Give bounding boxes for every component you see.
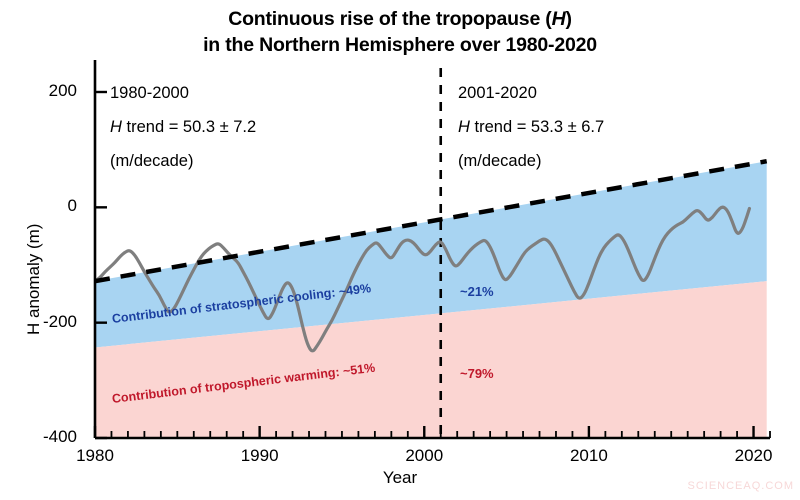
left-trend-value: trend = 50.3 ± 7.2 — [122, 118, 256, 136]
x-tick-label: 1990 — [230, 446, 290, 466]
annotation-left-period-units: (m/decade) — [110, 152, 193, 171]
annotation-right-period-trend: H trend = 53.3 ± 6.7 — [458, 118, 604, 137]
plot-canvas — [0, 0, 800, 500]
y-tick-label: -400 — [0, 427, 77, 447]
x-axis-title: Year — [0, 468, 800, 488]
x-tick-label: 2020 — [724, 446, 784, 466]
y-tick-label: 200 — [0, 81, 77, 101]
tropospheric-warming-percent-right: ~79% — [460, 366, 494, 381]
stratospheric-cooling-percent-right: ~21% — [460, 284, 494, 299]
annotation-right-period-units: (m/decade) — [458, 152, 541, 171]
right-trend-value: trend = 53.3 ± 6.7 — [470, 118, 604, 136]
x-tick-label: 2010 — [559, 446, 619, 466]
y-tick-label: -200 — [0, 312, 77, 332]
right-trend-italic-H: H — [458, 118, 470, 136]
annotation-right-period-range: 2001-2020 — [458, 84, 537, 103]
fill-layer — [95, 161, 767, 438]
annotation-left-period-range: 1980-2000 — [110, 84, 189, 103]
watermark: SCIENCEAQ.COM — [687, 480, 794, 492]
left-trend-italic-H: H — [110, 118, 122, 136]
chart-figure: Continuous rise of the tropopause (H) in… — [0, 0, 800, 500]
x-tick-label: 2000 — [394, 446, 454, 466]
annotation-left-period-trend: H trend = 50.3 ± 7.2 — [110, 118, 256, 137]
y-tick-label: 0 — [0, 196, 77, 216]
y-axis-title-rest: anomaly (m) — [24, 224, 43, 323]
x-tick-label: 1980 — [65, 446, 125, 466]
